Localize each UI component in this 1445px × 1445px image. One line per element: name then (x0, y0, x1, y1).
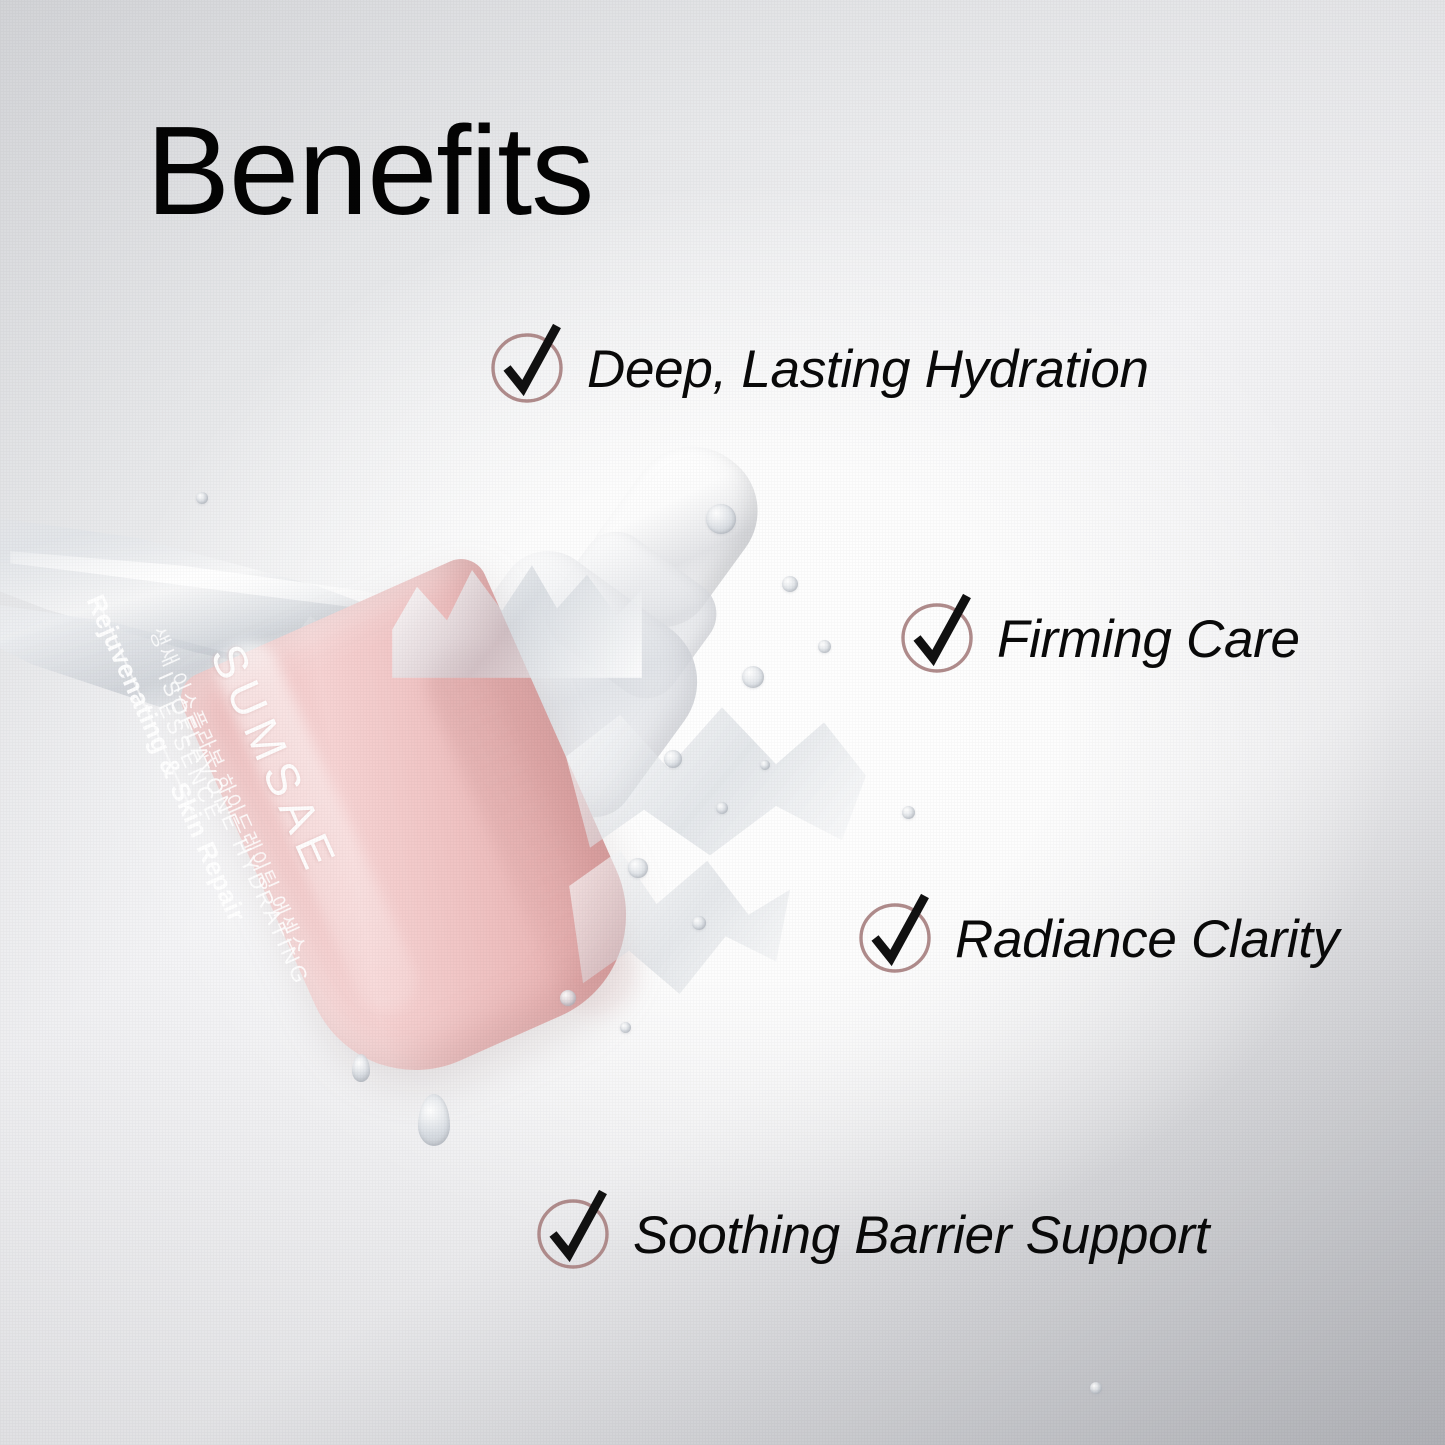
water-droplet (742, 666, 764, 688)
check-circle-icon (897, 600, 975, 678)
water-droplet (1090, 1382, 1102, 1394)
benefit-label: Firming Care (997, 609, 1300, 670)
benefit-label: Soothing Barrier Support (633, 1205, 1209, 1266)
water-droplet (902, 806, 915, 819)
water-droplet (560, 990, 576, 1006)
check-circle-icon (533, 1196, 611, 1274)
benefit-item: Soothing Barrier Support (533, 1196, 1209, 1274)
check-circle-icon (487, 330, 565, 408)
page-title: Benefits (146, 108, 593, 234)
water-droplet (706, 504, 736, 534)
water-droplet (716, 802, 728, 814)
water-droplet (620, 1022, 631, 1033)
benefit-item: Firming Care (897, 600, 1300, 678)
water-droplet (664, 750, 682, 768)
water-droplet (760, 760, 770, 770)
check-circle-icon (855, 900, 933, 978)
water-droplet (196, 492, 208, 504)
benefit-item: Deep, Lasting Hydration (487, 330, 1149, 408)
water-droplet-falling (352, 1054, 370, 1082)
water-droplet-falling (418, 1094, 450, 1146)
water-droplet (692, 916, 706, 930)
product-benefits-graphic: SUMSAE ISOFLAVONE HYDRATING ESSENCE 생새 이… (0, 0, 1445, 1445)
benefit-label: Deep, Lasting Hydration (587, 339, 1149, 400)
water-droplet (782, 576, 798, 592)
water-droplet (628, 858, 648, 878)
product-image: SUMSAE ISOFLAVONE HYDRATING ESSENCE 생새 이… (0, 430, 900, 1190)
water-droplet (818, 640, 831, 653)
benefit-label: Radiance Clarity (955, 909, 1339, 970)
benefit-item: Radiance Clarity (855, 900, 1339, 978)
